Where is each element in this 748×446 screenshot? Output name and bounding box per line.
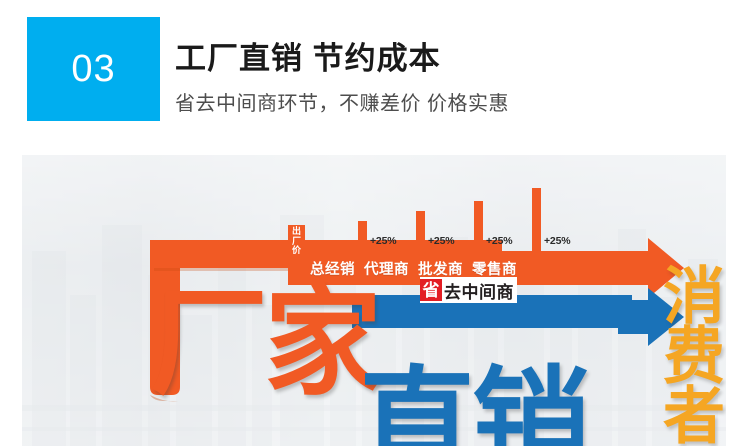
promo-banner: 03 工厂直销 节约成本 省去中间商环节，不赚差价 价格实惠: [0, 0, 748, 446]
markup-label: +25%: [544, 235, 570, 247]
section-header: 03 工厂直销 节约成本 省去中间商环节，不赚差价 价格实惠: [0, 0, 748, 152]
saving-text: 去中间商: [444, 278, 514, 303]
consumer-wordmark: 消费者: [658, 263, 716, 443]
section-number-badge: 03: [27, 17, 160, 121]
middleman-label: 零售商: [472, 258, 517, 279]
page-title: 工厂直销 节约成本: [175, 42, 441, 76]
middleman-label: 批发商: [418, 258, 463, 279]
direct-sales-wordmark: 直销: [358, 365, 586, 446]
markup-label: +25%: [428, 235, 454, 247]
direct-sales-infographic: +25% +25% +25% +25% 出厂价 总经销 代理商 批发商 零售商 …: [22, 155, 726, 446]
saving-badge: 省: [420, 279, 442, 301]
middleman-label: 总经销: [310, 258, 355, 279]
section-number: 03: [71, 50, 115, 88]
markup-label: +25%: [486, 235, 512, 247]
factory-wordmark: 厂家: [150, 285, 378, 403]
skip-middlemen-callout: 省 去中间商: [420, 277, 517, 303]
page-subtitle: 省去中间商环节，不赚差价 价格实惠: [175, 92, 509, 116]
markup-label: +25%: [370, 235, 396, 247]
middleman-label: 代理商: [364, 258, 409, 279]
